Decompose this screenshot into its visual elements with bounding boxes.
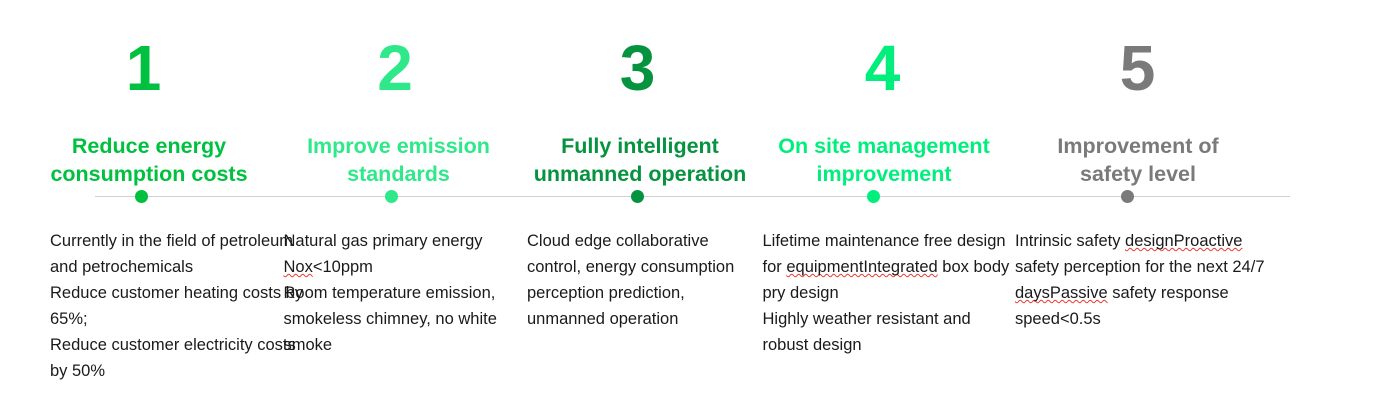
timeline-infographic: 1 Reduce energy consumption costs Curren… xyxy=(0,0,1389,407)
step-dot-1 xyxy=(135,190,148,203)
step-title-3: Fully intelligent unmanned operation xyxy=(534,132,747,189)
step-title-4: On site management improvement xyxy=(778,132,989,189)
step-dot-4 xyxy=(867,190,880,203)
step-number-1: 1 xyxy=(126,36,161,100)
spellcheck-misspelled-word: designProactive xyxy=(1125,232,1242,250)
step-title-1: Reduce energy consumption costs xyxy=(50,132,247,189)
step-dot-2 xyxy=(385,190,398,203)
step-number-5: 5 xyxy=(1120,36,1155,100)
timeline-step-3: 3 Fully intelligent unmanned operation C… xyxy=(521,0,759,189)
step-dot-3 xyxy=(631,190,644,203)
step-body-2: Natural gas primary energy Nox<10ppm Roo… xyxy=(284,228,529,358)
step-title-2: Improve emission standards xyxy=(307,132,490,189)
timeline-step-5: 5 Improvement of safety level Intrinsic … xyxy=(1009,0,1267,189)
step-body-5: Intrinsic safety designProactive safety … xyxy=(1015,228,1273,332)
step-dot-5 xyxy=(1121,190,1134,203)
step-number-2: 2 xyxy=(377,36,412,100)
step-body-wrap-2: Natural gas primary energy Nox<10ppm Roo… xyxy=(261,228,537,358)
timeline-steps: 1 Reduce energy consumption costs Curren… xyxy=(0,0,1389,407)
spellcheck-misspelled-word: daysPassive xyxy=(1015,284,1108,302)
spellcheck-misspelled-word: Nox xyxy=(284,258,313,276)
step-number-4: 4 xyxy=(865,36,900,100)
step-title-5: Improvement of safety level xyxy=(1057,132,1218,189)
timeline-step-4: 4 On site management improvement Lifetim… xyxy=(759,0,1009,189)
step-body-wrap-4: Lifetime maintenance free design for equ… xyxy=(752,228,1017,358)
step-body-wrap-3: Cloud edge collaborative control, energy… xyxy=(507,228,773,332)
timeline-step-2: 2 Improve emission standards Natural gas… xyxy=(276,0,521,189)
spellcheck-misspelled-word: equipmentIntegrated xyxy=(786,258,937,276)
timeline-step-1: 1 Reduce energy consumption costs Curren… xyxy=(22,0,276,189)
step-body-wrap-5: Intrinsic safety designProactive safety … xyxy=(1003,228,1273,332)
step-body-4: Lifetime maintenance free design for equ… xyxy=(763,228,1013,358)
step-body-3: Cloud edge collaborative control, energy… xyxy=(527,228,765,332)
step-number-3: 3 xyxy=(620,36,655,100)
